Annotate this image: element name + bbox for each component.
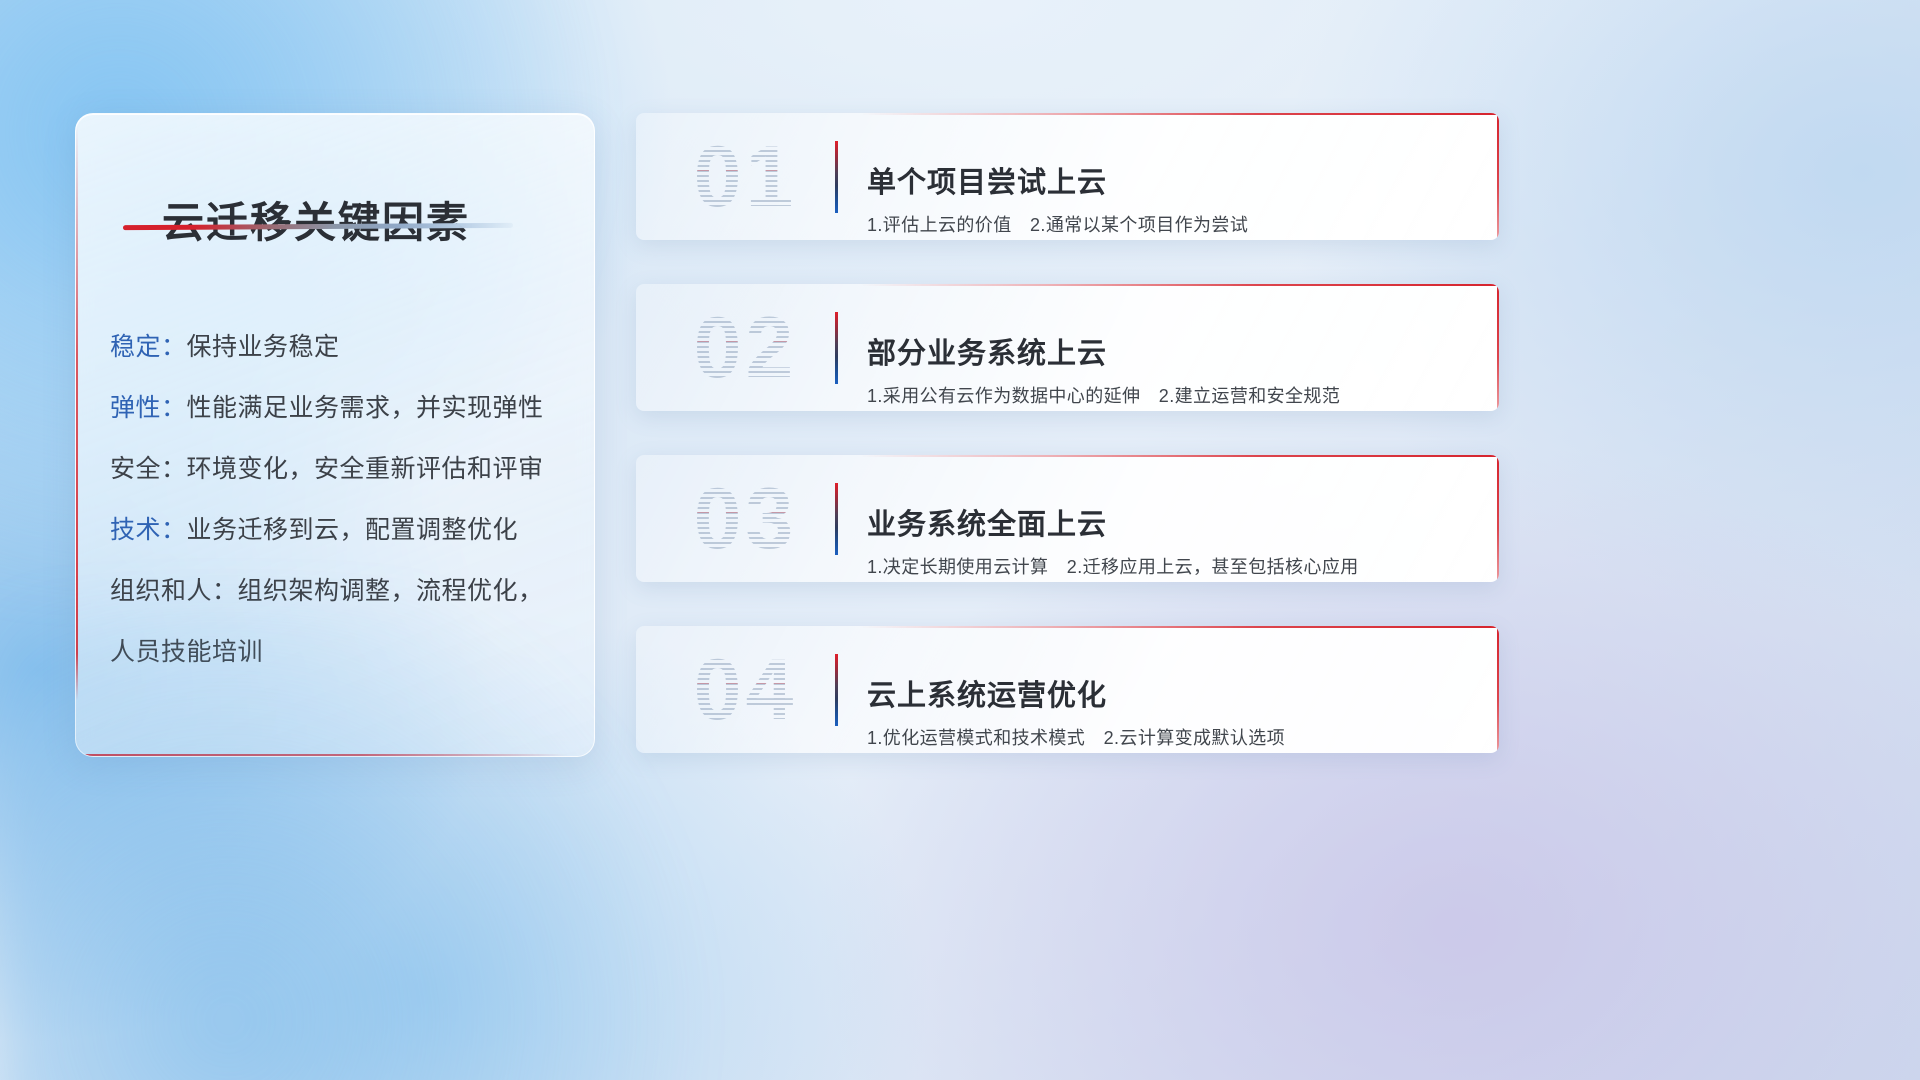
stage-card[interactable]: 0101 单个项目尝试上云 1.评估上云的价值 2.通常以某个项目作为尝试	[636, 113, 1499, 240]
stage-card[interactable]: 0202 部分业务系统上云 1.采用公有云作为数据中心的延伸 2.建立运营和安全…	[636, 284, 1499, 411]
card-divider-bar	[835, 141, 838, 213]
factor-label: 技术：	[110, 516, 187, 544]
factor-row: 稳定：保持业务稳定	[110, 317, 576, 378]
stage-heading: 云上系统运营优化	[867, 672, 1107, 714]
factor-text: 业务迁移到云，配置调整优化	[187, 516, 519, 544]
factor-row: 技术：业务迁移到云，配置调整优化	[110, 500, 576, 561]
card-right-accent-line	[1497, 455, 1499, 582]
stage-number-red-overlay: 03	[658, 467, 833, 571]
stage-heading: 业务系统全面上云	[867, 501, 1107, 543]
factor-row: 弹性：性能满足业务需求，并实现弹性	[110, 378, 576, 439]
stage-heading: 部分业务系统上云	[867, 330, 1107, 372]
card-top-accent-line	[636, 284, 1499, 286]
factor-label: 稳定：	[110, 333, 187, 361]
card-divider-bar	[835, 483, 838, 555]
stage-heading: 单个项目尝试上云	[867, 159, 1107, 201]
stage-subtitle: 1.采用公有云作为数据中心的延伸 2.建立运营和安全规范	[867, 382, 1340, 408]
card-top-accent-line	[636, 113, 1499, 115]
panel-bottom-accent-line	[76, 754, 568, 756]
card-divider-bar	[835, 654, 838, 726]
panel-left-accent-line	[76, 124, 78, 700]
stage-number: 0202	[658, 296, 833, 400]
stage-card-list: 0101 单个项目尝试上云 1.评估上云的价值 2.通常以某个项目作为尝试 02…	[636, 113, 1499, 753]
slide-canvas: 云迁移关键因素 稳定：保持业务稳定 弹性：性能满足业务需求，并实现弹性 安全：环…	[0, 0, 1920, 1080]
factor-text: 环境变化，安全重新评估和评审	[187, 455, 544, 483]
key-factors-panel: 云迁移关键因素 稳定：保持业务稳定 弹性：性能满足业务需求，并实现弹性 安全：环…	[75, 113, 595, 757]
factor-row: 人员技能培训	[110, 622, 576, 683]
stage-number: 0303	[658, 467, 833, 571]
card-top-accent-line	[636, 626, 1499, 628]
stage-card[interactable]: 0303 业务系统全面上云 1.决定长期使用云计算 2.迁移应用上云，甚至包括核…	[636, 455, 1499, 582]
card-right-accent-line	[1497, 113, 1499, 240]
factor-label: 安全：	[110, 455, 187, 483]
factor-label: 组织和人：	[110, 577, 238, 605]
factor-text: 性能满足业务需求，并实现弹性	[187, 394, 544, 422]
card-top-accent-line	[636, 455, 1499, 457]
stage-number-red-overlay: 02	[658, 296, 833, 400]
card-divider-bar	[835, 312, 838, 384]
stage-number-red-overlay: 01	[658, 125, 833, 229]
stage-subtitle: 1.决定长期使用云计算 2.迁移应用上云，甚至包括核心应用	[867, 553, 1359, 579]
factor-text: 组织架构调整，流程优化，	[238, 577, 544, 605]
factor-text: 人员技能培训	[110, 638, 263, 666]
card-right-accent-line	[1497, 284, 1499, 411]
page-title: 云迁移关键因素	[162, 189, 470, 250]
factor-list: 稳定：保持业务稳定 弹性：性能满足业务需求，并实现弹性 安全：环境变化，安全重新…	[110, 317, 576, 683]
stage-number: 0101	[658, 125, 833, 229]
factor-label: 弹性：	[110, 394, 187, 422]
card-right-accent-line	[1497, 626, 1499, 753]
factor-text: 保持业务稳定	[187, 333, 340, 361]
stage-number: 0404	[658, 638, 833, 742]
stage-number-red-overlay: 04	[658, 638, 833, 742]
stage-card[interactable]: 0404 云上系统运营优化 1.优化运营模式和技术模式 2.云计算变成默认选项	[636, 626, 1499, 753]
stage-subtitle: 1.优化运营模式和技术模式 2.云计算变成默认选项	[867, 724, 1285, 750]
factor-row: 安全：环境变化，安全重新评估和评审	[110, 439, 576, 500]
factor-row: 组织和人：组织架构调整，流程优化，	[110, 561, 576, 622]
stage-subtitle: 1.评估上云的价值 2.通常以某个项目作为尝试	[867, 211, 1248, 237]
